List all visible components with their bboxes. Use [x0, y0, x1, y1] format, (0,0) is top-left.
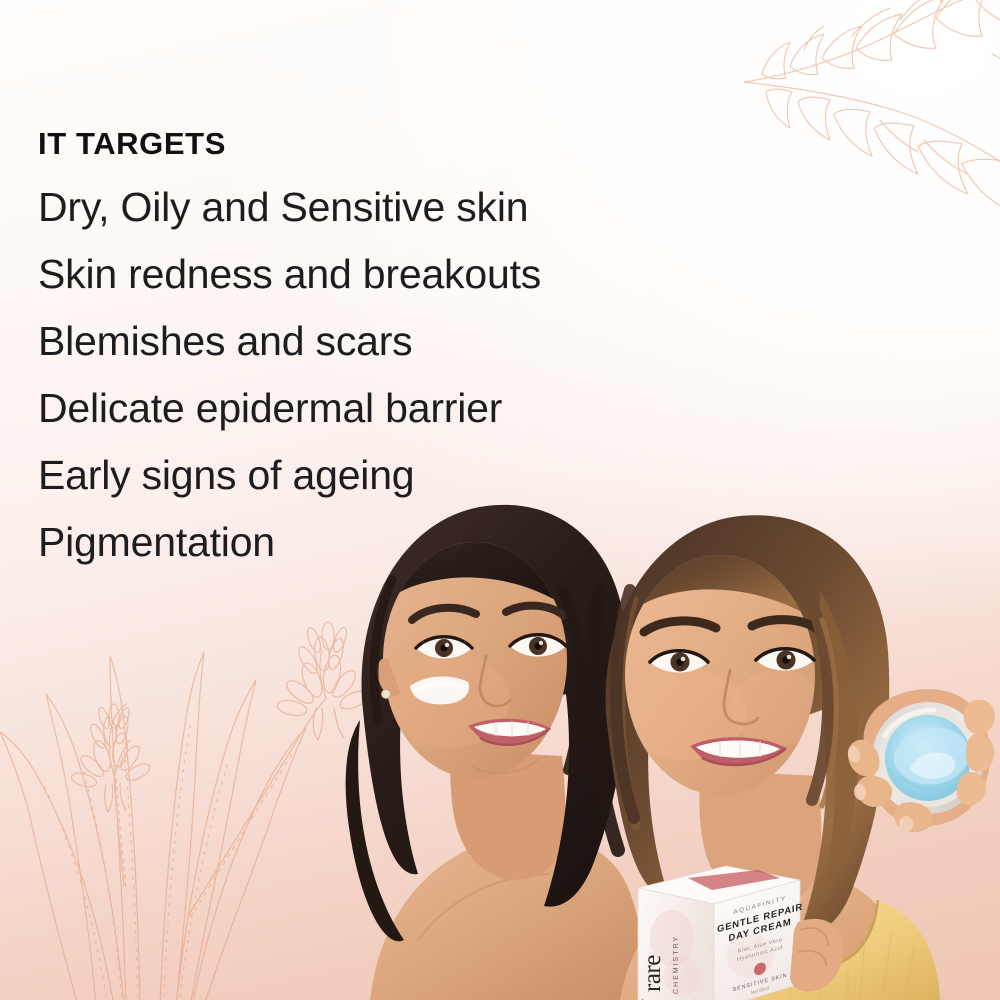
product-brand: rare	[639, 955, 666, 992]
target-item-3: Blemishes and scars	[38, 321, 698, 362]
target-item-6: Pigmentation	[38, 522, 698, 563]
target-item-1: Dry, Oily and Sensitive skin	[38, 187, 698, 228]
target-item-4: Delicate epidermal barrier	[38, 388, 698, 429]
copy-block: IT TARGETS Dry, Oily and Sensitive skin …	[38, 128, 698, 563]
botanical-leaf-line-art-icon	[704, 0, 1000, 212]
target-item-2: Skin redness and breakouts	[38, 254, 698, 295]
page-title: IT TARGETS	[38, 128, 698, 159]
target-item-5: Early signs of ageing	[38, 455, 698, 496]
promo-canvas: IT TARGETS Dry, Oily and Sensitive skin …	[0, 0, 1000, 1000]
product-brand-sub: CHEMISTRY	[673, 935, 680, 994]
